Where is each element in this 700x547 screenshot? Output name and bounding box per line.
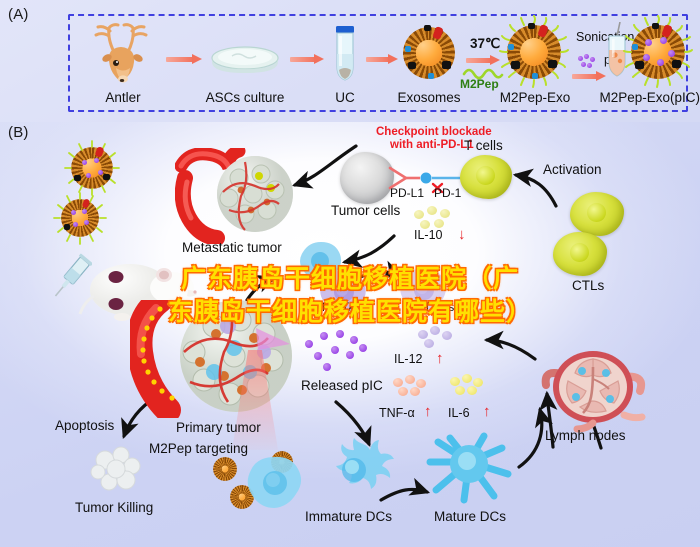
mature-dcs-label: Mature DCs — [434, 509, 506, 524]
figure-canvas: (A) — [0, 0, 700, 547]
exosome-particle-icon — [62, 200, 98, 236]
tnfa-label: TNF-α — [379, 406, 415, 420]
il6-trend-arrow: ↑ — [483, 404, 491, 419]
tumor-cells-icon — [340, 152, 394, 204]
checkpoint-blockade-label-line1: Checkpoint blockade — [376, 126, 492, 138]
il6-label: IL-6 — [448, 406, 470, 420]
panel-a-temperature-label: 37℃ — [470, 36, 500, 52]
il12-trend-arrow: ↑ — [436, 351, 444, 366]
panel-a-tag: (A) — [8, 6, 29, 23]
panel-a-step-label-exosomes: Exosomes — [394, 90, 464, 105]
tumor-cells-label: Tumor cells — [331, 203, 400, 218]
pdl1-label: PD-L1 — [390, 186, 424, 200]
panel-a-step-label-m2pepexopic: M2Pep-Exo(pIC) — [558, 90, 700, 105]
il10-trend-arrow: ↓ — [458, 227, 466, 242]
released-pic-cluster-icon — [305, 330, 367, 372]
lymph-node-icon — [540, 345, 646, 433]
panel-a-step-label-antler: Antler — [88, 90, 158, 105]
exosome-icon — [404, 28, 454, 78]
arrow-exosomes-to-m2pepexo — [466, 56, 500, 65]
arrow-uc-to-exosomes — [366, 55, 398, 64]
m2pep-targeting-label: M2Pep targeting — [149, 441, 248, 456]
il12-label: IL-12 — [394, 352, 423, 366]
m2-tams-label: M2 TAMs — [322, 300, 372, 314]
arrow-culture-to-uc — [290, 55, 324, 64]
metastatic-tumor-label: Metastatic tumor — [182, 240, 282, 255]
arrow-antler-to-culture — [166, 55, 202, 64]
m2pep-exosome-pic-icon — [632, 26, 684, 78]
activation-label: Activation — [543, 162, 602, 177]
dying-tumor-cell-icon — [88, 444, 144, 494]
immature-dcs-label: Immature DCs — [305, 509, 392, 524]
ctls-label: CTLs — [572, 278, 604, 293]
m2pep-exosome-icon — [508, 26, 560, 78]
tnfa-cytokine-cluster-icon — [393, 375, 429, 397]
checkpoint-blockade-label-line2: with anti-PD-L1 — [390, 139, 474, 151]
panel-a-step-label-uc: UC — [318, 90, 372, 105]
t-cell-icon — [460, 155, 512, 199]
targeting-exosome-icon — [214, 458, 236, 480]
t-cells-label: T cells — [464, 138, 503, 153]
pic-cluster-icon — [578, 54, 600, 70]
ctl-cell-icon — [553, 232, 607, 276]
target-macrophage-icon — [244, 454, 306, 512]
deer-icon — [88, 22, 158, 84]
exosome-particle-icon — [72, 148, 112, 188]
immature-dc-icon — [316, 434, 394, 506]
panel-b-tag: (B) — [8, 124, 29, 141]
pd1-label: PD-1 — [434, 186, 461, 200]
primary-tumor-label: Primary tumor — [176, 420, 261, 435]
il12-cytokine-cluster-icon — [418, 326, 458, 348]
panel-a-step-label-ascs: ASCs culture — [198, 90, 292, 105]
il6-cytokine-cluster-icon — [450, 374, 486, 396]
primary-tumor-icon — [130, 300, 320, 418]
tnfa-trend-arrow: ↑ — [424, 404, 432, 419]
centrifuge-tube-icon — [332, 24, 358, 82]
il10-label: IL-10 — [414, 228, 443, 242]
lymph-nodes-label: Lymph nodes — [545, 428, 626, 443]
ctl-cell-icon — [570, 192, 624, 236]
tumor-killing-label: Tumor Killing — [75, 500, 153, 515]
metastatic-tumor-icon — [175, 148, 315, 244]
m1-tams-label: M1 TAMs — [404, 300, 454, 314]
released-pic-label: Released pIC — [301, 378, 383, 393]
immune-cell-icon — [298, 240, 344, 282]
petri-dish-icon — [208, 44, 282, 78]
panel-a-m2pep-label: M2Pep — [460, 77, 499, 91]
mature-dc-icon — [424, 428, 514, 508]
apoptosis-label: Apoptosis — [55, 418, 114, 433]
panel-a: (A) — [0, 0, 700, 122]
arrow-m2pepexo-to-pic — [572, 72, 606, 81]
